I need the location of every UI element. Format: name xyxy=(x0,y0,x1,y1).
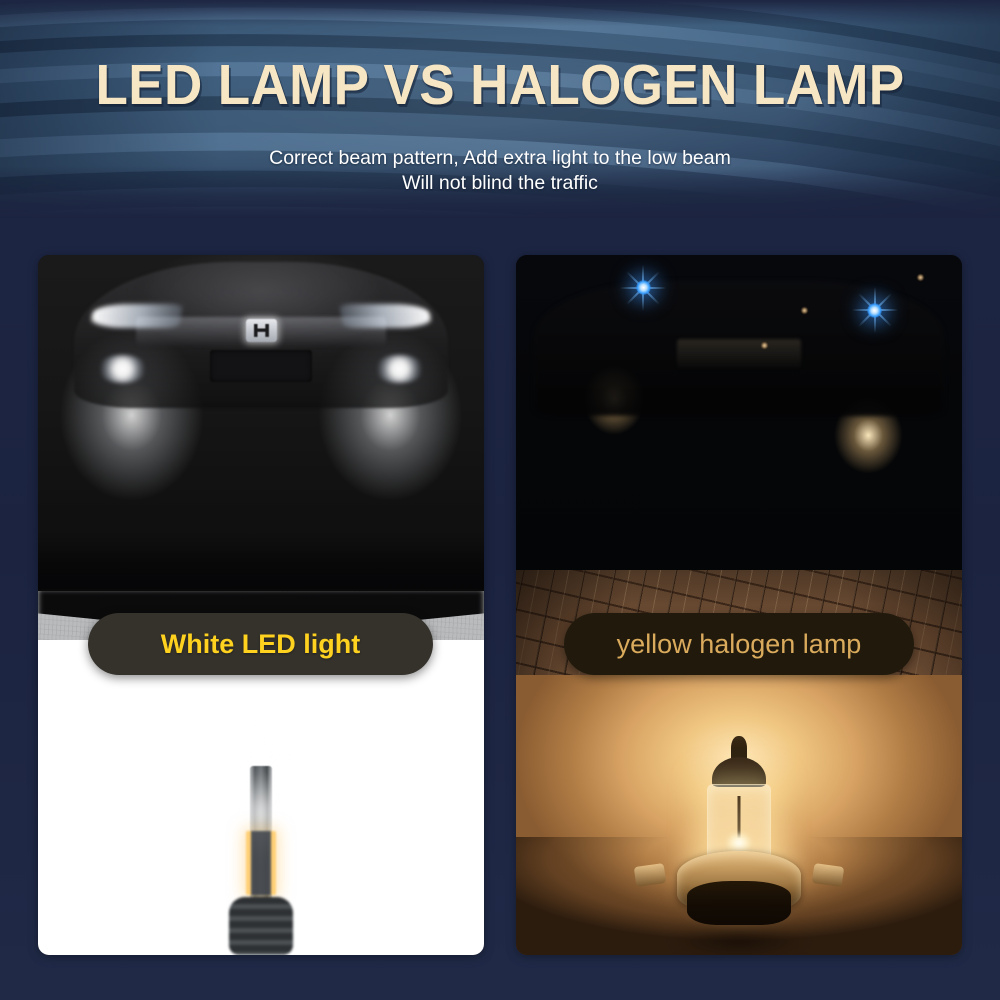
license-plate xyxy=(210,350,313,383)
halogen-night-street-photo xyxy=(516,255,962,577)
page-title: LED LAMP VS HALOGEN LAMP xyxy=(35,57,965,114)
led-headlight-right xyxy=(339,304,432,328)
halogen-photo-scene xyxy=(516,255,962,955)
halogen-bottom-vignette xyxy=(516,837,962,955)
header-banner: LED LAMP VS HALOGEN LAMP Correct beam pa… xyxy=(0,0,1000,218)
car-badge xyxy=(677,339,802,368)
led-fog-light-right xyxy=(375,355,424,383)
label-text-led: White LED light xyxy=(161,629,360,660)
page-subtitle: Correct beam pattern, Add extra light to… xyxy=(0,146,1000,196)
panel-halogen[interactable]: yellow halogen lamp xyxy=(516,255,962,955)
subtitle-line-2: Will not blind the traffic xyxy=(0,171,1000,196)
panel-led[interactable]: White LED light xyxy=(38,255,484,955)
blue-accent-light-left xyxy=(623,268,663,308)
amber-background-light xyxy=(917,274,924,281)
subtitle-line-1: Correct beam pattern, Add extra light to… xyxy=(269,147,731,169)
led-headlight-left xyxy=(90,304,183,328)
honda-emblem-icon xyxy=(246,319,277,342)
infographic-page: LED LAMP VS HALOGEN LAMP Correct beam pa… xyxy=(0,0,1000,1000)
comparison-panels: White LED light xyxy=(38,255,963,955)
led-bulb-base xyxy=(229,897,293,955)
label-text-halogen: yellow halogen lamp xyxy=(617,629,862,660)
label-pill-halogen: yellow halogen lamp xyxy=(564,613,914,675)
halogen-bulb-backdrop xyxy=(516,675,962,955)
star-core xyxy=(636,280,651,295)
blue-accent-light-right xyxy=(855,290,895,330)
led-bulb-chip xyxy=(246,831,276,895)
led-fog-light-left xyxy=(98,355,147,383)
label-pill-led: White LED light xyxy=(88,613,433,675)
led-photo-scene xyxy=(38,255,484,955)
header-top-fade xyxy=(0,0,1000,26)
halogen-bulb-cap xyxy=(712,757,766,787)
amber-background-light xyxy=(801,307,808,314)
led-bulb-white-backdrop xyxy=(38,640,484,955)
